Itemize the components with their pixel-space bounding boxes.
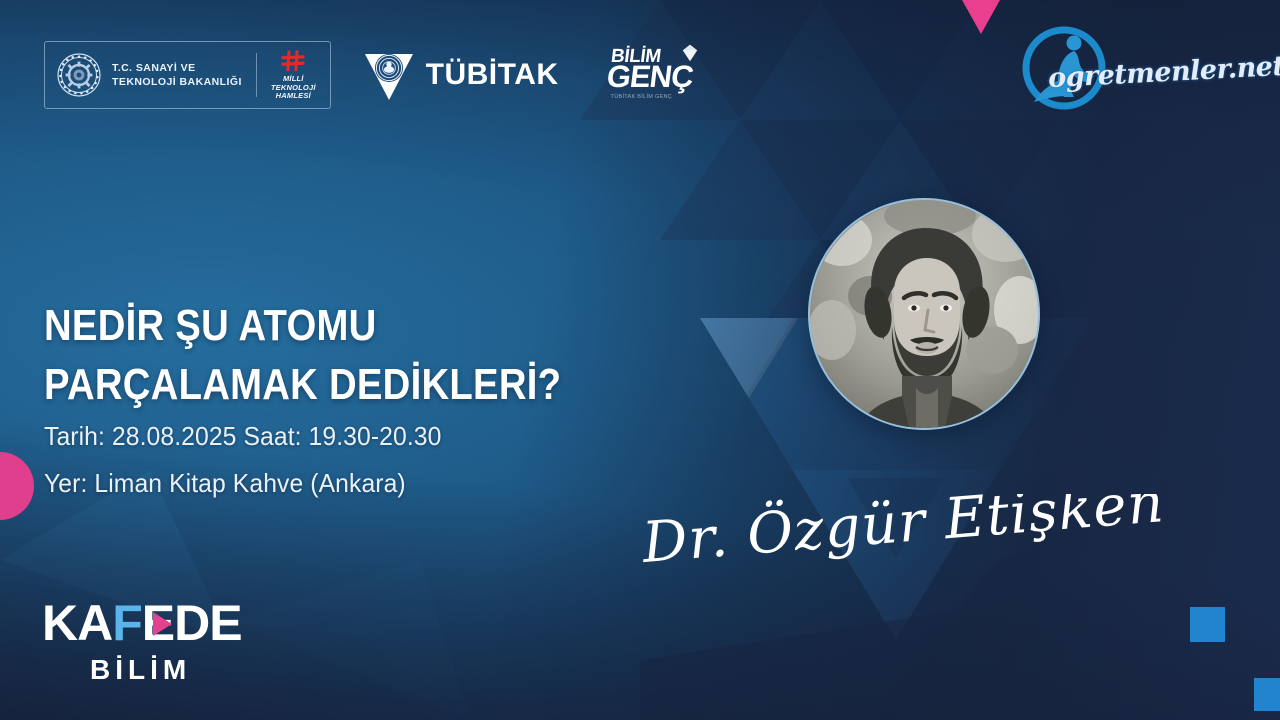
- blue-square-accent-1: [1190, 607, 1225, 642]
- ministry-name-line-1: T.C. SANAYİ VE: [112, 62, 196, 74]
- diamond-icon: [682, 44, 698, 62]
- ministry-logo: T.C. SANAYİ VE TEKNOLOJİ BAKANLIĞI: [44, 41, 331, 109]
- milli-teknoloji-logo: MİLLİ TEKNOLOJİ HAMLESİ: [271, 49, 316, 100]
- milli-teknoloji-text: MİLLİ TEKNOLOJİ HAMLESİ: [271, 75, 316, 100]
- sponsor-divider: [256, 53, 257, 97]
- kafede-bilim-logo: KAFEDE BİLİM: [42, 596, 274, 686]
- svg-text:Dr. Özgür Etişken: Dr. Özgür Etişken: [639, 494, 1167, 576]
- mth-line-3: HAMLESİ: [276, 91, 311, 100]
- event-details: Tarih: 28.08.2025 Saat: 19.30-20.30 Yer:…: [44, 418, 664, 502]
- kafede-part-1: KA: [42, 596, 112, 650]
- kafede-letters: KAFEDE: [42, 596, 242, 650]
- ministry-name: T.C. SANAYİ VE TEKNOLOJİ BAKANLIĞI: [112, 61, 242, 89]
- page-title: NEDİR ŞU ATOMU PARÇALAMAK DEDİKLERİ?: [44, 297, 636, 413]
- tubitak-triangle-icon: [363, 48, 415, 102]
- kafede-wordmark: KAFEDE: [42, 596, 274, 650]
- ministry-seal-icon: [57, 53, 101, 97]
- event-poster: T.C. SANAYİ VE TEKNOLOJİ BAKANLIĞI: [0, 0, 1280, 720]
- kafede-letter-f: F: [112, 596, 142, 650]
- ministry-name-line-2: TEKNOLOJİ BAKANLIĞI: [112, 76, 242, 88]
- kafede-bilim-subtitle: BİLİM: [90, 654, 274, 686]
- tubitak-logo: TÜBİTAK: [363, 48, 559, 102]
- site-watermark[interactable]: ogretmenler.net: [1002, 18, 1252, 123]
- event-date-time: Tarih: 28.08.2025 Saat: 19.30-20.30: [44, 418, 633, 455]
- sponsor-logo-bar: T.C. SANAYİ VE TEKNOLOJİ BAKANLIĞI: [44, 41, 701, 109]
- bilim-genc-logo: BİLİM GENÇ TÜBİTAK BİLİM GENÇ: [607, 44, 701, 106]
- blue-square-accent-2: [1254, 678, 1280, 711]
- hash-star-icon: [280, 49, 306, 73]
- play-triangle-icon: [153, 612, 172, 636]
- bilim-genc-line-2: GENÇ: [604, 59, 694, 95]
- speaker-signature: Dr. Özgür Etişken: [638, 494, 1238, 590]
- bilim-genc-tagline: TÜBİTAK BİLİM GENÇ: [611, 94, 673, 100]
- event-venue: Yer: Liman Kitap Kahve (Ankara): [44, 465, 633, 502]
- tubitak-label: TÜBİTAK: [426, 58, 559, 92]
- speaker-portrait-photo: [808, 198, 1040, 430]
